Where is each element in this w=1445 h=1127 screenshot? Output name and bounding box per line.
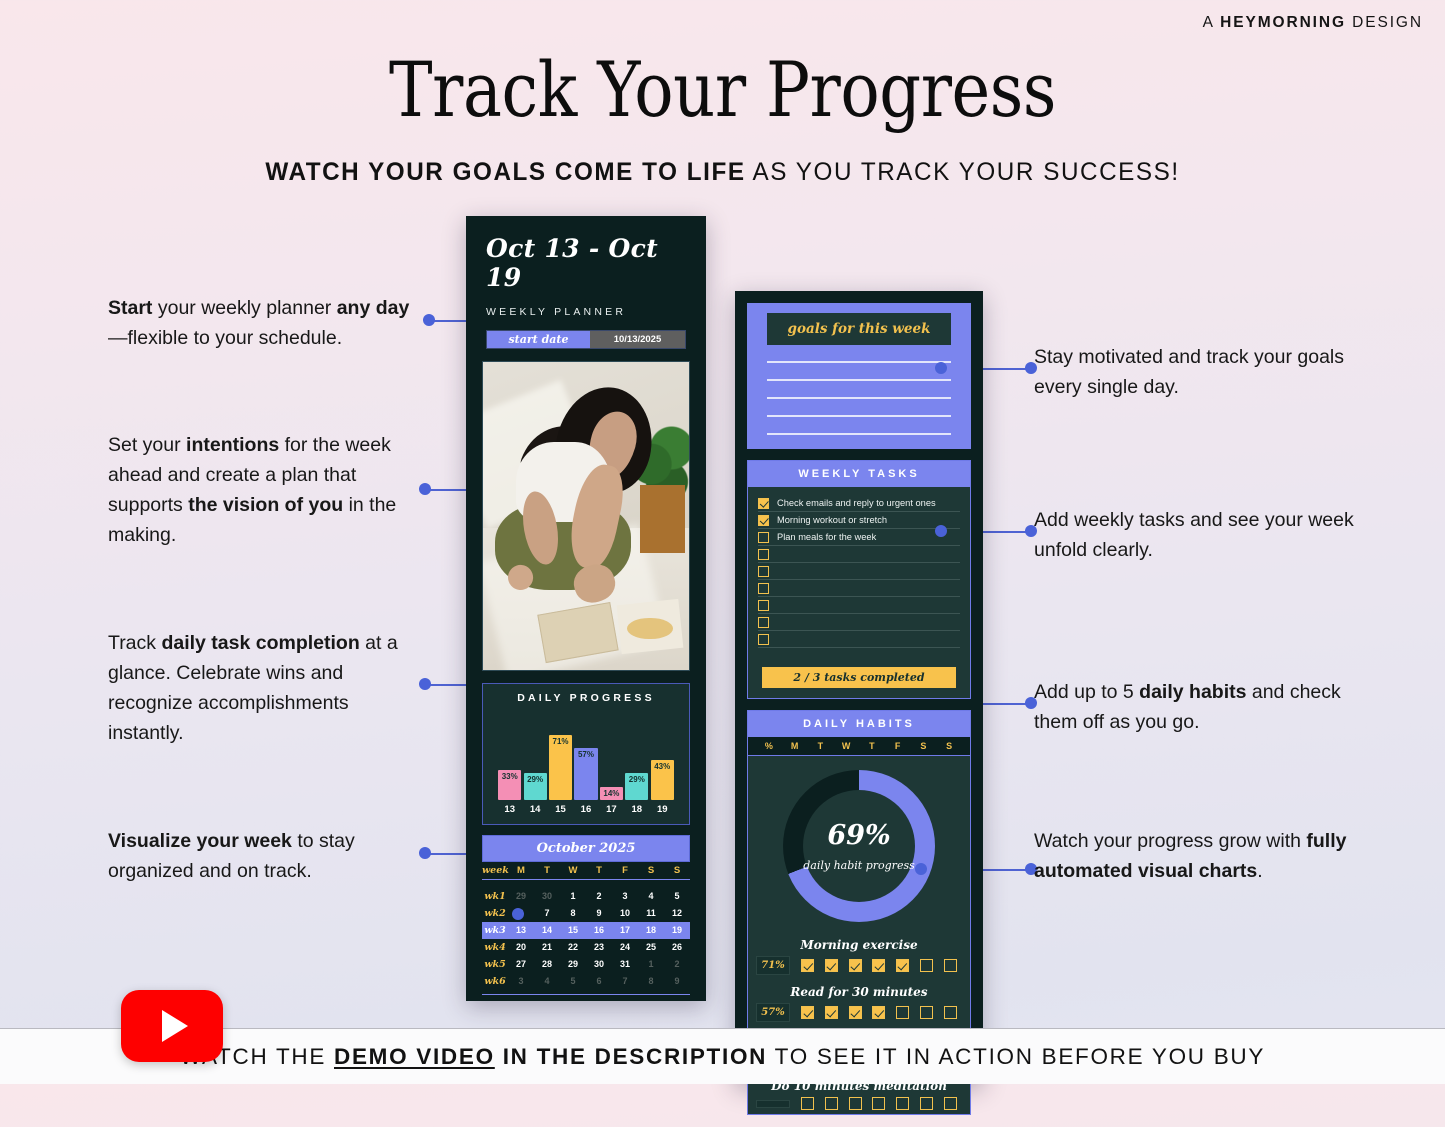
- habit-checkbox-icon[interactable]: [944, 1006, 957, 1019]
- calendar-week-row[interactable]: wk5272829303112: [482, 956, 690, 973]
- calendar-day-cell[interactable]: 31: [612, 956, 638, 973]
- weekly-goals-panel[interactable]: goals for this week: [747, 303, 971, 449]
- habit-checkbox-icon[interactable]: [825, 1006, 838, 1019]
- bar-column: 43%: [651, 760, 674, 800]
- habit-checkbox-icon[interactable]: [801, 1006, 814, 1019]
- note-weekly-tasks: Add weekly tasks and see your week unfol…: [1034, 505, 1364, 565]
- habit-block[interactable]: Read for 30 minutes57%: [748, 985, 970, 1026]
- checkbox-icon[interactable]: [758, 583, 769, 594]
- habit-checkbox-icon[interactable]: [801, 1097, 814, 1110]
- task-row[interactable]: [758, 546, 960, 563]
- habit-block[interactable]: Morning exercise71%: [748, 938, 970, 979]
- habits-day-headers: %MTWTFSS: [748, 737, 970, 756]
- calendar-day-cell[interactable]: 9: [664, 973, 690, 990]
- habit-checkbox-icon[interactable]: [849, 1006, 862, 1019]
- bar: 33%: [498, 770, 521, 800]
- bar-value-label: 29%: [625, 775, 648, 784]
- bar: 71%: [549, 735, 572, 800]
- habit-column-header: S: [911, 741, 937, 751]
- note-daily-habits: Add up to 5 daily habits and check them …: [1034, 677, 1364, 737]
- habits-list[interactable]: Morning exercise71%Read for 30 minutes57…: [748, 938, 970, 1114]
- task-row[interactable]: Plan meals for the week: [758, 529, 960, 546]
- calendar-week-col-header: week: [482, 862, 508, 880]
- task-row[interactable]: [758, 597, 960, 614]
- calendar-day-cell[interactable]: 23: [586, 939, 612, 956]
- calendar-day-cell[interactable]: 17: [612, 922, 638, 939]
- checkbox-icon[interactable]: [758, 617, 769, 628]
- habit-column-header: S: [936, 741, 962, 751]
- calendar-month-title: October 2025: [482, 835, 690, 862]
- bar-column: 29%: [524, 773, 547, 800]
- calendar-day-cell[interactable]: 25: [638, 939, 664, 956]
- start-date-label: start date: [487, 331, 590, 348]
- habit-check-cells: [796, 1006, 962, 1019]
- calendar-day-cell[interactable]: 2: [586, 888, 612, 905]
- calendar-week-row[interactable]: wk63456789: [482, 973, 690, 990]
- calendar-day-cell[interactable]: 8: [560, 905, 586, 922]
- habit-block[interactable]: Do 10 minutes meditation: [748, 1079, 970, 1114]
- habit-name[interactable]: Read for 30 minutes: [756, 985, 962, 999]
- calendar-day-cell[interactable]: 21: [534, 939, 560, 956]
- habit-checkbox-icon[interactable]: [872, 1097, 885, 1110]
- planner-header: Oct 13 - Oct 19 WEEKLY PLANNER: [466, 216, 706, 318]
- calendar-week-label: wk5: [482, 956, 508, 973]
- calendar-day-cell[interactable]: 20: [508, 939, 534, 956]
- checkbox-icon[interactable]: [758, 532, 769, 543]
- donut-percent: 69%: [803, 820, 915, 851]
- calendar-day-cell[interactable]: 16: [586, 922, 612, 939]
- bar-value-label: 29%: [524, 775, 547, 784]
- habit-checkbox-icon[interactable]: [896, 1006, 909, 1019]
- bar-x-label: 13: [498, 804, 521, 815]
- brand-suffix: DESIGN: [1346, 14, 1423, 31]
- calendar-week-row[interactable]: wk420212223242526: [482, 939, 690, 956]
- calendar-day-cell[interactable]: 6: [586, 973, 612, 990]
- youtube-play-button[interactable]: [121, 990, 223, 1062]
- task-label[interactable]: Check emails and reply to urgent ones: [777, 498, 936, 508]
- bar: 29%: [524, 773, 547, 800]
- brand-name: HEYMORNING: [1220, 14, 1346, 31]
- bar-x-label: 17: [600, 804, 623, 815]
- poster-canvas: A HEYMORNING DESIGN Track Your Progress …: [0, 0, 1445, 1084]
- habit-checkbox-icon[interactable]: [872, 1006, 885, 1019]
- planner-photo: [482, 361, 690, 671]
- task-row[interactable]: [758, 563, 960, 580]
- weekly-tasks-panel[interactable]: WEEKLY TASKS Check emails and reply to u…: [747, 460, 971, 699]
- tasks-completed-summary: 2 / 3 tasks completed: [762, 667, 956, 688]
- goals-write-lines[interactable]: [759, 361, 959, 435]
- habit-column-header: W: [833, 741, 859, 751]
- calendar-day-cell[interactable]: 7: [534, 905, 560, 922]
- goal-line[interactable]: [767, 433, 951, 435]
- checkbox-icon[interactable]: [758, 498, 769, 509]
- calendar-week-label: wk4: [482, 939, 508, 956]
- habit-checkbox-icon[interactable]: [849, 1097, 862, 1110]
- note-intentions: Set your intentions for the week ahead a…: [108, 430, 428, 550]
- connector-dot-6b: [935, 525, 947, 537]
- connector-dot-8b: [915, 863, 927, 875]
- habit-percent: 71%: [756, 956, 790, 975]
- calendar-day-cell[interactable]: 29: [560, 956, 586, 973]
- habit-checkbox-icon[interactable]: [944, 959, 957, 972]
- habit-percent: 57%: [756, 1003, 790, 1022]
- habit-progress-donut: 69% daily habit progress: [748, 756, 970, 932]
- goal-line[interactable]: [767, 361, 951, 363]
- calendar-day-cell[interactable]: 26: [664, 939, 690, 956]
- calendar-day-cell[interactable]: 2: [664, 956, 690, 973]
- calendar-grid[interactable]: weekMTWTFSS wk1293012345wk26789101112wk3…: [482, 862, 690, 990]
- calendar-day-cell[interactable]: 27: [508, 956, 534, 973]
- calendar-header-row: weekMTWTFSS: [482, 862, 690, 880]
- calendar-day-cell[interactable]: 19: [664, 922, 690, 939]
- calendar-footer-rule: [482, 994, 690, 995]
- calendar-day-header: T: [534, 862, 560, 880]
- play-icon: [162, 1010, 188, 1042]
- footer-demo-link[interactable]: DEMO VIDEO: [334, 1044, 495, 1069]
- note-start-any-day: Start your weekly planner any day—flexib…: [108, 293, 428, 353]
- bar-x-label: 19: [651, 804, 674, 815]
- habit-checkbox-icon[interactable]: [849, 959, 862, 972]
- subtitle-bold: WATCH YOUR GOALS COME TO LIFE: [265, 158, 745, 186]
- habit-checkbox-icon[interactable]: [825, 959, 838, 972]
- calendar-week-row[interactable]: wk313141516171819: [482, 922, 690, 939]
- calendar-day-cell[interactable]: 5: [664, 888, 690, 905]
- calendar-day-header: W: [560, 862, 586, 880]
- habit-column-header: T: [859, 741, 885, 751]
- note-stay-motivated: Stay motivated and track your goals ever…: [1034, 342, 1364, 402]
- calendar-day-cell[interactable]: 9: [586, 905, 612, 922]
- goal-line[interactable]: [767, 379, 951, 381]
- calendar-day-cell[interactable]: 4: [534, 973, 560, 990]
- checkbox-icon[interactable]: [758, 515, 769, 526]
- habit-row: [756, 1097, 962, 1110]
- checkbox-icon[interactable]: [758, 566, 769, 577]
- habit-column-header: %: [756, 741, 782, 751]
- bar-column: 14%: [600, 787, 623, 800]
- habit-column-header: M: [782, 741, 808, 751]
- calendar-day-cell[interactable]: 13: [508, 922, 534, 939]
- calendar-day-cell[interactable]: 15: [560, 922, 586, 939]
- bar-value-label: 71%: [549, 737, 572, 746]
- daily-habits-title: DAILY HABITS: [748, 711, 970, 737]
- weekly-tasks-title: WEEKLY TASKS: [748, 461, 970, 487]
- page-subtitle: WATCH YOUR GOALS COME TO LIFE AS YOU TRA…: [22, 158, 1424, 187]
- habit-name[interactable]: Morning exercise: [756, 938, 962, 952]
- bar-x-label: 15: [549, 804, 572, 815]
- brand-credit: A HEYMORNING DESIGN: [1203, 14, 1423, 32]
- task-label[interactable]: Plan meals for the week: [777, 532, 876, 542]
- bar-x-label: 16: [574, 804, 597, 815]
- bar: 14%: [600, 787, 623, 800]
- weekly-planner-card[interactable]: Oct 13 - Oct 19 WEEKLY PLANNER start dat…: [466, 216, 706, 1001]
- task-label[interactable]: Morning workout or stretch: [777, 515, 887, 525]
- goals-title: goals for this week: [767, 313, 951, 345]
- calendar-week-label: wk6: [482, 973, 508, 990]
- bar-chart-xlabels: 13141516171819: [491, 800, 681, 815]
- calendar-week-label: wk3: [482, 922, 508, 939]
- calendar-day-cell[interactable]: 11: [638, 905, 664, 922]
- bar-column: 29%: [625, 773, 648, 800]
- calendar-day-header: M: [508, 862, 534, 880]
- donut-caption: daily habit progress: [803, 859, 915, 872]
- goal-line[interactable]: [767, 397, 951, 399]
- habit-percent: [756, 1100, 790, 1108]
- calendar-day-cell[interactable]: 1: [560, 888, 586, 905]
- calendar-day-cell[interactable]: 8: [638, 973, 664, 990]
- habit-checkbox-icon[interactable]: [920, 959, 933, 972]
- bar-value-label: 57%: [574, 750, 597, 759]
- week-range-title: Oct 13 - Oct 19: [486, 234, 686, 292]
- habit-checkbox-icon[interactable]: [872, 959, 885, 972]
- calendar-day-cell[interactable]: 24: [612, 939, 638, 956]
- calendar-day-cell[interactable]: 12: [664, 905, 690, 922]
- bar-x-label: 18: [625, 804, 648, 815]
- calendar-day-cell[interactable]: 4: [638, 888, 664, 905]
- habit-checkbox-icon[interactable]: [920, 1006, 933, 1019]
- task-row[interactable]: [758, 614, 960, 631]
- calendar-day-cell[interactable]: 14: [534, 922, 560, 939]
- daily-progress-chart: DAILY PROGRESS 33%29%71%57%14%29%43% 131…: [482, 683, 690, 825]
- calendar-day-header: T: [586, 862, 612, 880]
- bar-x-label: 14: [524, 804, 547, 815]
- habit-checkbox-icon[interactable]: [801, 959, 814, 972]
- task-row[interactable]: Morning workout or stretch: [758, 512, 960, 529]
- calendar-body[interactable]: wk1293012345wk26789101112wk3131415161718…: [482, 880, 690, 990]
- subtitle-rest: AS YOU TRACK YOUR SUCCESS!: [746, 158, 1180, 186]
- habit-checkbox-icon[interactable]: [896, 959, 909, 972]
- daily-progress-title: DAILY PROGRESS: [491, 692, 681, 704]
- calendar-day-cell[interactable]: 10: [612, 905, 638, 922]
- note-visualize-week: Visualize your week to stay organized an…: [108, 826, 428, 886]
- tasks-habits-card[interactable]: goals for this week WEEKLY TASKS Check e…: [735, 291, 983, 1084]
- task-row[interactable]: Check emails and reply to urgent ones: [758, 495, 960, 512]
- donut-ring: 69% daily habit progress: [783, 770, 935, 922]
- bar-value-label: 14%: [600, 789, 623, 798]
- calendar-day-cell[interactable]: 7: [612, 973, 638, 990]
- start-date-row[interactable]: start date 10/13/2025: [486, 330, 686, 349]
- bar: 57%: [574, 748, 597, 800]
- task-row[interactable]: [758, 631, 960, 648]
- connector-dot-5b: [935, 362, 947, 374]
- habit-checkbox-icon[interactable]: [944, 1097, 957, 1110]
- habit-column-header: T: [808, 741, 834, 751]
- bar-value-label: 43%: [651, 762, 674, 771]
- calendar-day-cell[interactable]: 28: [534, 956, 560, 973]
- habit-checkbox-icon[interactable]: [920, 1097, 933, 1110]
- calendar-day-cell[interactable]: 3: [612, 888, 638, 905]
- calendar-day-cell[interactable]: 3: [508, 973, 534, 990]
- note-daily-task-completion: Track daily task completion at a glance.…: [108, 628, 428, 748]
- connector-dot-4b: [512, 908, 524, 920]
- planner-subtitle: WEEKLY PLANNER: [486, 306, 686, 318]
- bar-column: 57%: [574, 748, 597, 800]
- habit-column-header: F: [885, 741, 911, 751]
- page-title: Track Your Progress: [101, 52, 1344, 128]
- calendar-day-cell[interactable]: 1: [638, 956, 664, 973]
- footer-cta-text: WATCH THE DEMO VIDEO IN THE DESCRIPTION …: [180, 1044, 1265, 1070]
- bar-column: 71%: [549, 735, 572, 800]
- brand-prefix: A: [1203, 14, 1221, 31]
- calendar-day-header: F: [612, 862, 638, 880]
- calendar-week-row[interactable]: wk1293012345: [482, 888, 690, 905]
- habit-check-cells: [796, 959, 962, 972]
- bar-column: 33%: [498, 770, 521, 800]
- habit-check-cells: [796, 1097, 962, 1110]
- bar: 43%: [651, 760, 674, 800]
- goal-line[interactable]: [767, 415, 951, 417]
- calendar-day-cell[interactable]: 30: [534, 888, 560, 905]
- calendar-day-cell[interactable]: 18: [638, 922, 664, 939]
- start-date-value[interactable]: 10/13/2025: [590, 331, 685, 348]
- calendar-week-label: wk1: [482, 888, 508, 905]
- task-row[interactable]: [758, 580, 960, 597]
- calendar-day-cell[interactable]: 22: [560, 939, 586, 956]
- calendar-day-cell[interactable]: 5: [560, 973, 586, 990]
- checkbox-icon[interactable]: [758, 549, 769, 560]
- footer-mid: IN THE DESCRIPTION: [495, 1044, 767, 1069]
- bar-chart-bars: 33%29%71%57%14%29%43%: [491, 708, 681, 800]
- calendar-day-cell[interactable]: 30: [586, 956, 612, 973]
- checkbox-icon[interactable]: [758, 634, 769, 645]
- calendar-day-header: S: [638, 862, 664, 880]
- calendar-week-label: wk2: [482, 905, 508, 922]
- habit-checkbox-icon[interactable]: [896, 1097, 909, 1110]
- checkbox-icon[interactable]: [758, 600, 769, 611]
- footer-post: TO SEE IT IN ACTION BEFORE YOU BUY: [767, 1044, 1265, 1069]
- calendar-day-header: S: [664, 862, 690, 880]
- weekly-tasks-list[interactable]: Check emails and reply to urgent onesMor…: [748, 487, 970, 658]
- habit-checkbox-icon[interactable]: [825, 1097, 838, 1110]
- bar: 29%: [625, 773, 648, 800]
- note-automated-charts: Watch your progress grow with fully auto…: [1034, 826, 1364, 886]
- habit-row: 57%: [756, 1003, 962, 1022]
- bar-value-label: 33%: [498, 772, 521, 781]
- habit-row: 71%: [756, 956, 962, 975]
- calendar-day-cell[interactable]: 29: [508, 888, 534, 905]
